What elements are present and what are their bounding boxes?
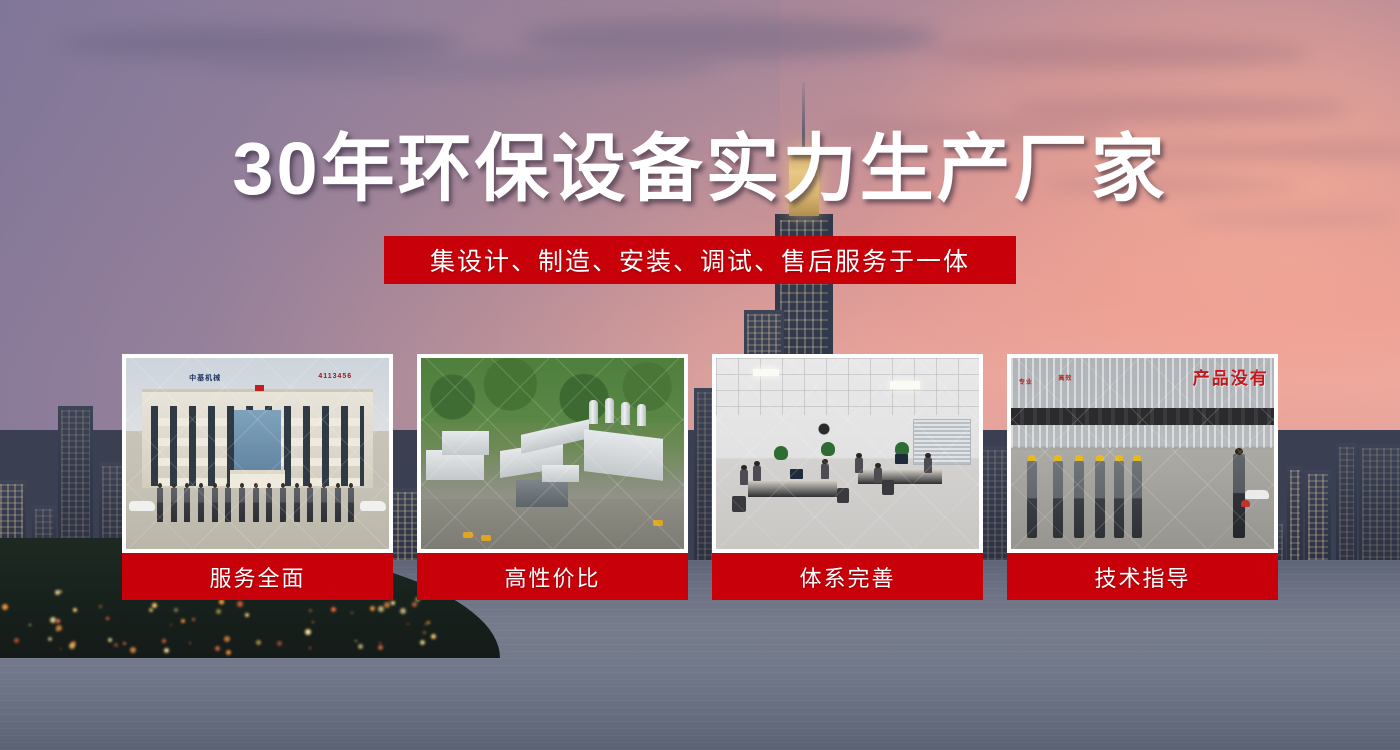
slogan-text: 专业 (1019, 377, 1033, 386)
staff-member (198, 488, 204, 522)
staff-member (212, 488, 218, 522)
skyline-building (1359, 444, 1400, 570)
staff-member (239, 488, 245, 522)
street-light (56, 629, 58, 631)
street-light (226, 650, 231, 655)
monitor-icon (895, 454, 908, 464)
ceiling-light-icon (753, 369, 779, 376)
photo-scene: 中基机械 4113456 (126, 358, 389, 549)
street-light (2, 604, 8, 610)
street-light (427, 621, 430, 624)
street-light (149, 608, 153, 612)
street-light (69, 643, 75, 649)
street-light (351, 612, 353, 614)
street-light (164, 648, 169, 653)
card-caption-bar: 技术指导 (1007, 553, 1278, 600)
ceiling-grid (716, 358, 979, 415)
person (855, 457, 863, 473)
street-light (114, 643, 118, 647)
card-caption-text: 技术指导 (1094, 561, 1190, 593)
staff-member (294, 488, 300, 522)
chair (882, 480, 894, 495)
street-light (59, 590, 62, 593)
excavator-icon (653, 520, 663, 526)
photo-scene (716, 358, 979, 549)
street-light (14, 638, 19, 643)
plant-building (516, 480, 569, 507)
street-light (215, 646, 220, 651)
worker (1053, 461, 1063, 537)
street-light (170, 624, 172, 626)
silo (605, 398, 614, 423)
street-light (277, 641, 282, 646)
potted-plant-icon (774, 446, 788, 460)
car-icon (360, 501, 386, 511)
staff-member (253, 488, 259, 522)
street-light (123, 642, 126, 645)
street-light (378, 606, 384, 612)
window-blinds (913, 419, 971, 465)
street-light (420, 640, 425, 645)
street-light (108, 638, 112, 642)
street-light (99, 605, 102, 608)
chair (837, 488, 849, 503)
card-photo-workers-lineup-in-front-of-factory: 产品没有 专业 高效 (1007, 354, 1278, 553)
street-light (309, 647, 311, 649)
street-light (400, 608, 406, 614)
supervisor (1233, 454, 1245, 538)
street-light (378, 645, 383, 650)
street-light (309, 609, 312, 612)
excavator-icon (463, 532, 473, 538)
street-light (305, 629, 311, 635)
staff-member (184, 488, 190, 522)
street-light (379, 642, 381, 644)
staff-member (335, 488, 341, 522)
person (740, 469, 748, 485)
building-phone-text: 4113456 (318, 373, 352, 380)
staff-lineup (155, 488, 360, 522)
worker (1074, 461, 1084, 537)
window-strip (1011, 408, 1274, 425)
skyline-building (1305, 470, 1331, 570)
worker (1132, 461, 1142, 537)
laptop-icon (790, 469, 803, 479)
feature-card[interactable]: 产品没有 专业 高效 (1007, 354, 1278, 604)
ceiling-light-icon (890, 381, 920, 389)
skyline-building (1287, 466, 1303, 570)
person (753, 465, 761, 481)
page-title: 30年环保设备实力生产厂家 (0, 132, 1400, 206)
staff-member (307, 488, 313, 522)
feature-card[interactable]: 中基机械 4113456 服务全面 (122, 354, 393, 604)
street-light (48, 637, 52, 641)
silo (637, 404, 646, 426)
street-light (216, 609, 221, 614)
card-photo-company-headquarters-building-with-staff: 中基机械 4113456 (122, 354, 393, 553)
cloud (930, 38, 1310, 68)
street-light (312, 621, 314, 623)
excavator-icon (481, 535, 491, 541)
skyline-building (1336, 443, 1357, 570)
street-light (331, 607, 336, 612)
staff-member (171, 488, 177, 522)
staff-member (348, 488, 354, 522)
cloud (1180, 210, 1400, 226)
street-light (431, 634, 436, 639)
street-light (370, 606, 375, 611)
card-photo-aerial-view-industrial-plant (417, 354, 688, 553)
street-light (358, 644, 363, 649)
street-light (355, 640, 357, 642)
street-light (73, 608, 77, 612)
worker (1095, 461, 1105, 537)
building-sign-text: 中基机械 (189, 373, 221, 383)
street-light (245, 613, 249, 617)
chair (732, 496, 746, 512)
person (874, 467, 882, 483)
staff-member (225, 488, 231, 522)
street-light (56, 619, 60, 623)
slogan-text: 高效 (1058, 373, 1072, 382)
cloud (200, 54, 720, 80)
staff-member (321, 488, 327, 522)
factory-sign-text: 产品没有 (1193, 364, 1269, 389)
car-icon (1245, 490, 1269, 499)
red-helmet-icon (1241, 500, 1250, 507)
card-photo-office-interior-with-employees (712, 354, 983, 553)
street-light (224, 636, 230, 642)
street-light (60, 648, 62, 650)
silo (621, 402, 630, 425)
street-light (181, 619, 185, 623)
street-light (29, 624, 31, 626)
plant-building (442, 431, 489, 456)
photo-scene (421, 358, 684, 549)
photo-scene: 产品没有 专业 高效 (1011, 358, 1274, 549)
street-light (174, 608, 178, 612)
person (924, 457, 932, 473)
card-caption-bar: 体系完善 (712, 553, 983, 600)
worker (1114, 461, 1124, 537)
staff-member (157, 488, 163, 522)
person (821, 463, 829, 479)
subtitle-banner: 集设计、制造、安装、调试、售后服务于一体 (384, 236, 1016, 284)
potted-plant-icon (821, 442, 835, 456)
card-caption-text: 高性价比 (504, 561, 600, 593)
street-light (256, 640, 261, 645)
subtitle-text: 集设计、制造、安装、调试、售后服务于一体 (430, 242, 970, 278)
cloud (520, 18, 940, 58)
feature-card[interactable]: 高性价比 (417, 354, 688, 604)
plant-building (584, 430, 663, 482)
street-light (106, 617, 109, 620)
desk (748, 480, 837, 497)
street-light (407, 623, 409, 625)
card-caption-bar: 服务全面 (122, 553, 393, 600)
cloud (1010, 96, 1350, 122)
feature-card[interactable]: 体系完善 (712, 354, 983, 604)
staff-member (266, 488, 272, 522)
street-light (189, 642, 191, 644)
street-light (423, 631, 426, 634)
card-caption-text: 服务全面 (209, 561, 305, 593)
street-light (192, 618, 195, 621)
street-light (162, 639, 166, 643)
silo (589, 400, 598, 424)
worker (1027, 461, 1037, 537)
office-building (142, 389, 373, 492)
wall-decal (811, 417, 837, 437)
promotional-banner: 30年环保设备实力生产厂家 集设计、制造、安装、调试、售后服务于一体 中基机械 … (0, 0, 1400, 750)
feature-card-row: 中基机械 4113456 服务全面 (122, 354, 1278, 604)
plant-building (542, 465, 579, 482)
street-light (130, 647, 136, 653)
flag-icon (255, 385, 264, 391)
card-caption-text: 体系完善 (799, 561, 895, 593)
car-icon (129, 501, 155, 511)
card-caption-bar: 高性价比 (417, 553, 688, 600)
staff-member (280, 488, 286, 522)
